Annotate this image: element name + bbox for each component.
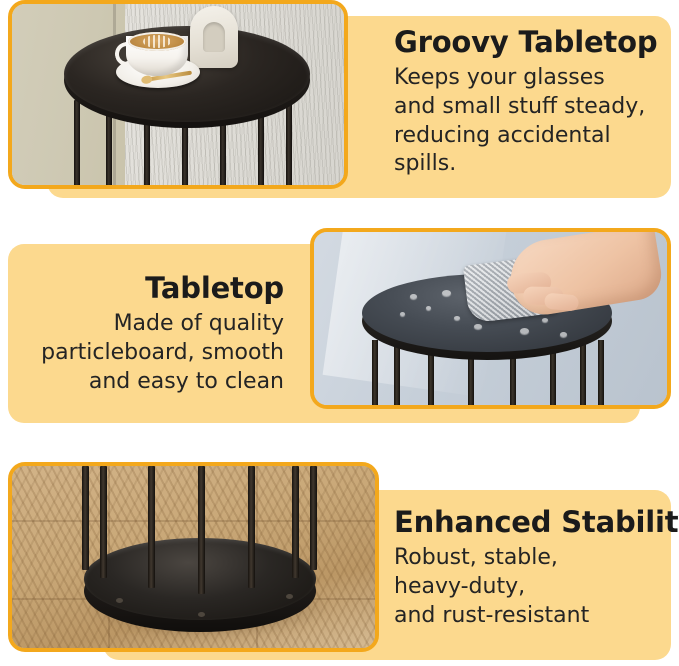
feature-description-line: Made of quality <box>114 311 284 336</box>
water-droplet <box>560 332 567 337</box>
feature-description-line: Robust, stable, <box>394 545 558 570</box>
ceramic-ornament <box>190 6 238 68</box>
feature-copy-tabletop: Tabletop Made of quality particleboard, … <box>16 272 284 396</box>
product-feature-infographic: Groovy Tabletop Keeps your glasses and s… <box>0 0 679 666</box>
feature-title-enhanced-stability: Enhanced Stability <box>394 506 666 538</box>
assembly-bolt <box>116 598 123 603</box>
feature-description-enhanced-stability: Robust, stable, heavy-duty, and rust-res… <box>394 544 666 630</box>
latte-art <box>143 35 171 48</box>
feature-description-line: Keeps your glasses <box>394 65 605 90</box>
feature-description-tabletop: Made of quality particleboard, smooth an… <box>16 310 284 396</box>
table-base-shelf-photo <box>8 462 379 652</box>
feature-copy-enhanced-stability: Enhanced Stability Robust, stable, heavy… <box>394 506 666 630</box>
feature-description-line: reducing accidental <box>394 123 611 148</box>
feature-description-line: and rust-resistant <box>394 603 589 628</box>
wiping-tabletop-photo <box>310 228 671 409</box>
scene-wiping-tabletop <box>314 232 667 405</box>
assembly-bolt <box>198 612 205 617</box>
table-legs <box>70 466 332 626</box>
feature-description-line: and small stuff steady, <box>394 94 645 119</box>
round-side-table-with-latte-photo <box>8 0 348 189</box>
feature-copy-groovy-tabletop: Groovy Tabletop Keeps your glasses and s… <box>394 26 670 179</box>
feature-description-line: heavy-duty, <box>394 574 525 599</box>
scene-side-table-latte <box>12 4 344 185</box>
water-droplet <box>454 316 460 320</box>
hand <box>505 228 665 319</box>
feature-description-line: spills. <box>394 151 456 176</box>
water-droplet <box>410 294 417 299</box>
water-droplet <box>442 290 451 296</box>
feature-description-line: particleboard, smooth <box>41 340 284 365</box>
water-droplet <box>400 312 405 316</box>
feature-title-groovy-tabletop: Groovy Tabletop <box>394 26 670 58</box>
water-droplet <box>426 306 431 310</box>
feature-description-groovy-tabletop: Keeps your glasses and small stuff stead… <box>394 64 670 178</box>
feature-description-line: and easy to clean <box>89 369 284 394</box>
assembly-bolt <box>286 594 293 599</box>
water-droplet <box>520 328 529 334</box>
water-droplet <box>542 318 548 322</box>
feature-title-tabletop: Tabletop <box>16 272 284 304</box>
scene-table-base-shelf <box>12 466 375 648</box>
finger <box>544 293 579 312</box>
water-droplet <box>474 324 482 329</box>
